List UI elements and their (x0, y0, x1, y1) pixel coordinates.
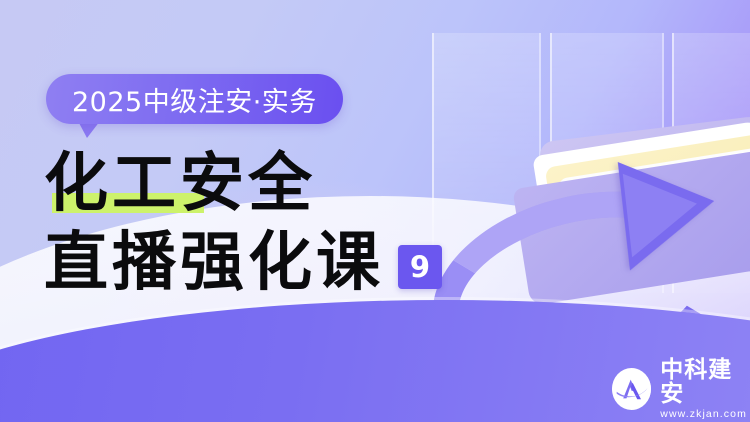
title-block: 化工安全 直播强化课 9 (44, 152, 442, 297)
brand-name-cn: 中科建安 (660, 358, 750, 406)
episode-number-badge: 9 (398, 245, 442, 289)
title-line-2: 直播强化课 9 (44, 231, 442, 296)
title-text-line1: 化工安全 (44, 152, 316, 217)
title-line-1: 化工安全 (44, 152, 442, 217)
course-tag-badge: 2025中级注安·实务 (46, 74, 343, 124)
zkjan-logo-icon (612, 368, 651, 410)
course-tag-label: 2025中级注安·实务 (72, 80, 317, 119)
course-banner: 2025中级注安·实务 化工安全 直播强化课 9 中科建安 www.zkjan.… (0, 0, 750, 422)
brand-logo-text: 中科建安 www.zkjan.com (660, 358, 750, 420)
brand-logo[interactable]: 中科建安 www.zkjan.com (612, 358, 750, 420)
brand-url: www.zkjan.com (660, 408, 747, 420)
title-text-line2: 直播强化课 (44, 231, 384, 296)
